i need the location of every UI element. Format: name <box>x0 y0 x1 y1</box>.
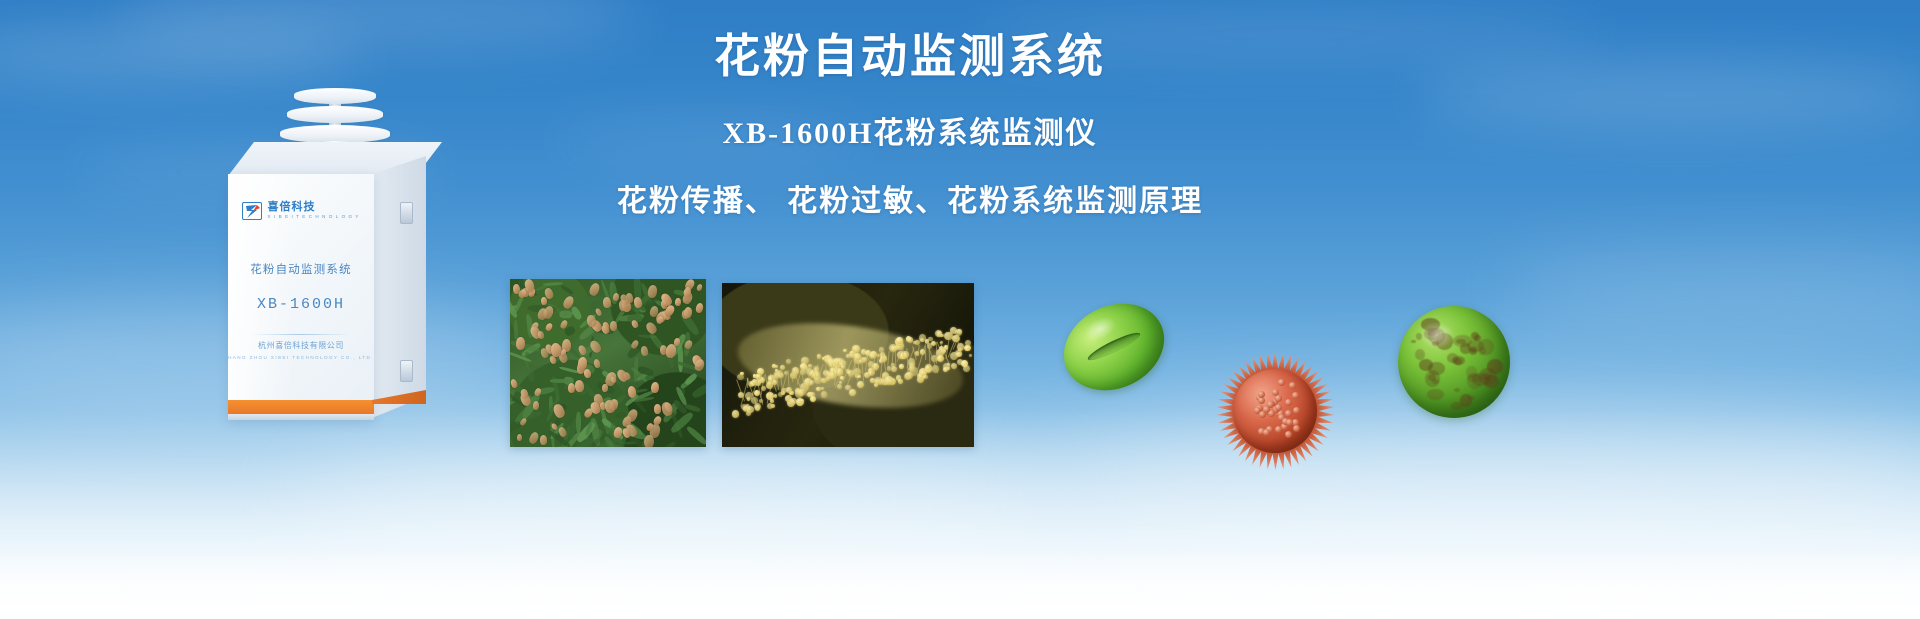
green-ellipsoid-grain <box>1062 306 1166 388</box>
grain-blotch <box>1411 340 1416 343</box>
catkin-floret <box>747 406 754 413</box>
cabinet-latch-upper <box>400 202 413 224</box>
device-base-foot <box>228 414 374 420</box>
device-product-name: 花粉自动监测系统 <box>228 261 374 277</box>
grain-bump <box>1258 391 1265 398</box>
grain-highlight <box>1420 322 1454 348</box>
pollen-cone <box>540 297 546 305</box>
grain-body <box>1398 306 1510 418</box>
catkin-floret <box>824 356 827 359</box>
grain-blotch <box>1487 359 1503 374</box>
grain-blotch <box>1454 388 1460 392</box>
cabinet-latch-lower <box>400 360 413 382</box>
rain-shield-disc-top <box>294 88 376 104</box>
pollen-cone <box>602 384 608 392</box>
rain-shield-disc-middle <box>287 106 383 123</box>
catkin-floret <box>786 359 791 364</box>
cloud-wisp <box>0 26 360 82</box>
product-subtitle: XB-1600H花粉系统监测仪 <box>600 108 1220 152</box>
grain-blotch <box>1415 349 1425 360</box>
headline-block: 花粉自动监测系统 XB-1600H花粉系统监测仪 花粉传播、 花粉过敏、花粉系统… <box>600 28 1220 220</box>
pollen-cone <box>540 435 547 445</box>
pollen-cone <box>515 336 525 349</box>
catkin-floret <box>917 373 922 378</box>
device-company-en: HANG ZHOU XIBEI TECHNOLOGY CO., LTD. <box>228 355 374 360</box>
pollen-cone <box>653 404 660 414</box>
catkin-floret <box>909 365 914 370</box>
xibei-logo-icon <box>242 202 262 220</box>
pollen-monitor-device: 喜倍科技 X I B E I T E C H N O L O G Y 花粉自动监… <box>210 78 460 428</box>
grain-bump <box>1285 431 1292 438</box>
pollen-cone <box>517 434 522 441</box>
grain-bump <box>1286 419 1293 426</box>
cabinet-side-face <box>372 156 426 418</box>
catkin-floret <box>898 379 903 384</box>
pollen-monitoring-banner: 花粉自动监测系统 XB-1600H花粉系统监测仪 花粉传播、 花粉过敏、花粉系统… <box>0 0 1920 619</box>
pollen-cone <box>574 380 584 393</box>
grain-bump <box>1275 426 1282 433</box>
device-base-stripe <box>228 400 374 414</box>
page-title: 花粉自动监测系统 <box>600 28 1220 86</box>
catkin-floret <box>852 345 859 352</box>
photo-cypress-pollen-cones <box>510 279 706 447</box>
grain-bump <box>1285 399 1292 406</box>
photo-catkin-spike <box>722 283 974 447</box>
grain-blotch <box>1427 389 1444 400</box>
brand-logo: 喜倍科技 X I B E I T E C H N O L O G Y <box>228 202 374 220</box>
cloud-wisp <box>1500 250 1920 330</box>
cloud-wisp <box>300 430 1060 570</box>
horizon-haze-lower <box>0 547 1920 619</box>
grain-blotch <box>1478 339 1494 356</box>
catkin-floret <box>963 365 970 372</box>
catkin-floret <box>843 349 847 353</box>
grain-bump <box>1275 395 1282 402</box>
brand-name-en: X I B E I T E C H N O L O G Y <box>267 215 359 220</box>
conifer-needle <box>576 412 581 433</box>
pollen-cone <box>609 321 616 331</box>
catkin-floret <box>885 376 893 384</box>
grain-blotch <box>1419 359 1433 371</box>
green-mottled-grain <box>1398 306 1510 418</box>
catkin-floret <box>957 329 962 334</box>
topic-tagline: 花粉传播、 花粉过敏、花粉系统监测原理 <box>600 176 1220 220</box>
brand-logo-text: 喜倍科技 X I B E I T E C H N O L O G Y <box>267 202 359 220</box>
catkin-floret <box>800 399 803 402</box>
catkin-floret <box>899 364 904 369</box>
cloud-wisp <box>1050 400 1920 560</box>
brand-name-cn: 喜倍科技 <box>267 202 359 213</box>
grain-bump <box>1259 411 1266 418</box>
catkin-floret <box>816 387 820 391</box>
catkin-floret <box>780 365 785 370</box>
pollen-cone <box>643 435 653 447</box>
catkin-floret <box>969 354 972 357</box>
grain-blotch <box>1451 402 1463 410</box>
grain-bump <box>1289 382 1296 389</box>
device-divider <box>252 334 350 335</box>
grain-blotch <box>1469 348 1477 355</box>
catkin-floret <box>913 341 916 344</box>
catkin-floret <box>732 410 740 418</box>
catkin-floret <box>837 384 842 389</box>
pollen-cone <box>675 297 682 306</box>
catkin-floret <box>770 399 773 402</box>
conifer-needle <box>528 364 543 368</box>
cloud-wisp <box>120 0 640 50</box>
device-model-label: XB-1600H <box>228 296 374 313</box>
cloud-wisp <box>1420 60 1920 130</box>
catkin-floret <box>798 389 805 396</box>
grain-blotch <box>1468 396 1476 401</box>
red-spiky-grain <box>1216 352 1334 470</box>
catkin-floret <box>924 375 928 379</box>
device-company-cn: 杭州喜倍科技有限公司 <box>228 340 374 351</box>
catkin-floret <box>956 352 962 358</box>
catkin-floret <box>754 403 761 410</box>
